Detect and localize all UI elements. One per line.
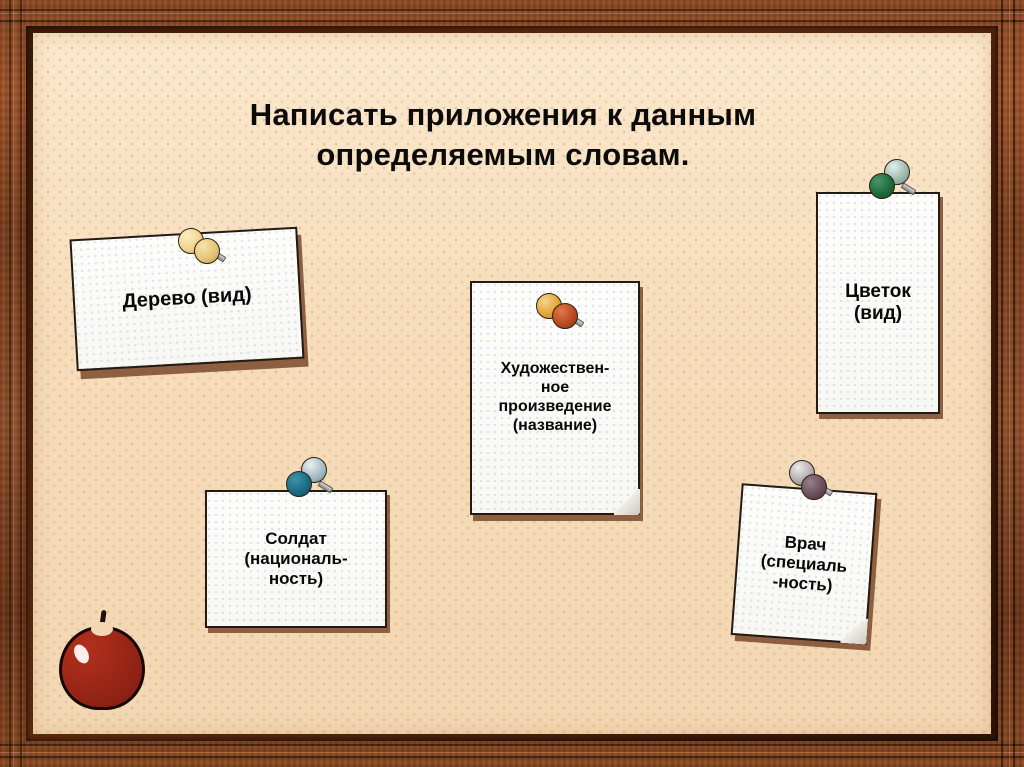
note-vrach-text: Врач (специаль -ность) [736,529,872,599]
pin-needle-icon [901,182,917,195]
note-hudozhestvennoe-text: Художествен- ное произведение (название) [472,360,638,436]
page-curl-corner [838,615,868,645]
cork-board: Написать приложения к данным определяемы… [33,33,991,734]
title-line-2: определяемым словам. [163,135,843,175]
pin-ball-icon [552,303,578,329]
apple-body-icon [59,626,145,710]
pushpin-hudozhestvennoe[interactable] [536,291,592,347]
apple-top-notch [91,622,113,636]
slide-canvas: Написать приложения к данным определяемы… [0,0,1024,767]
pushpin-vrach[interactable] [785,460,841,516]
pin-ball-icon [286,471,312,497]
note-cvetok-text: Цветок (вид) [818,281,938,326]
pushpin-soldat[interactable] [285,457,341,513]
pin-needle-icon [318,480,334,493]
note-derevo-text: Дерево (вид) [75,281,300,317]
page-title: Написать приложения к данным определяемы… [163,95,843,174]
pushpin-cvetok[interactable] [868,159,924,215]
note-soldat-text: Солдат (националь- ность) [207,529,385,589]
title-line-1: Написать приложения к данным [163,95,843,135]
pushpin-derevo[interactable] [178,226,234,282]
page-curl-corner [612,487,640,515]
pin-ball-icon [869,173,895,199]
note-cvetok[interactable]: Цветок (вид) [816,192,940,414]
pin-ball-icon [194,238,220,264]
apple-icon [59,610,145,710]
pin-ball-icon [801,474,827,500]
